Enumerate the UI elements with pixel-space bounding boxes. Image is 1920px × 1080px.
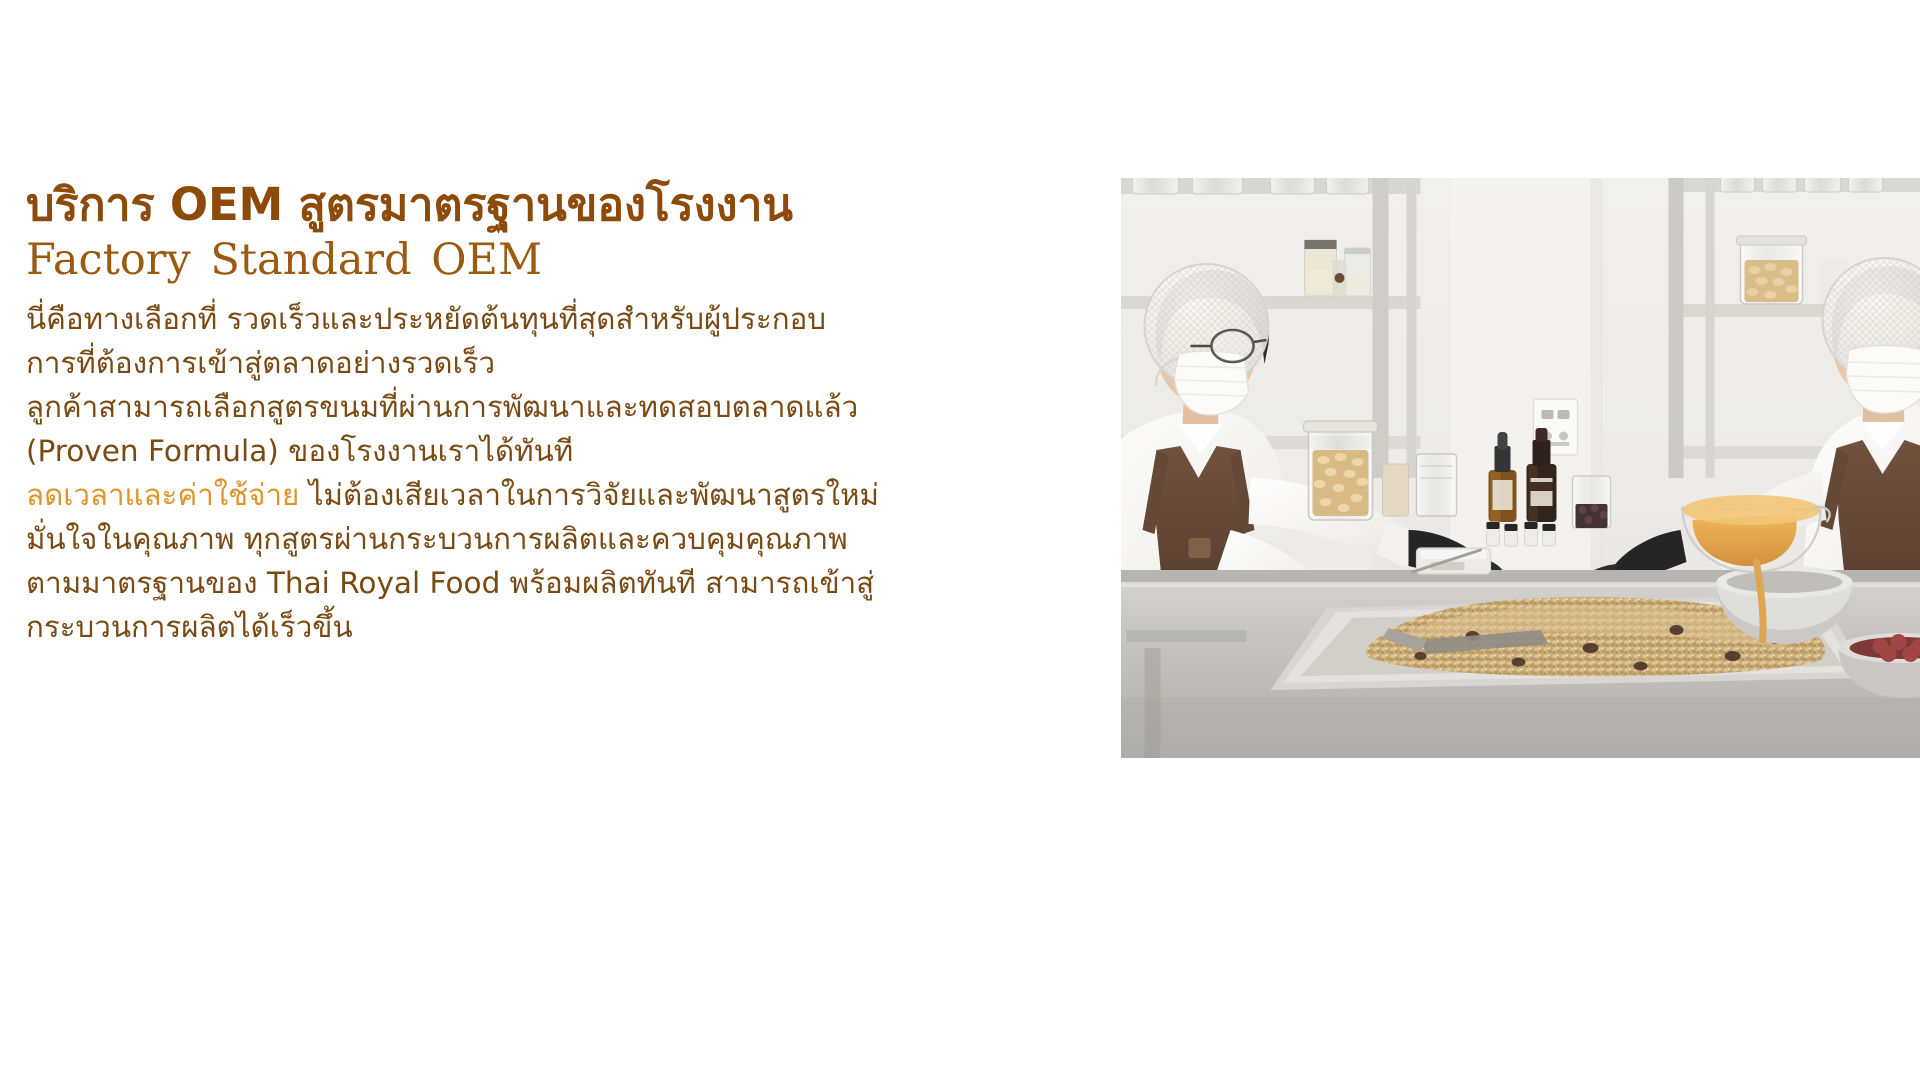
content-column: บริการ OEM สูตรมาตรฐานของโรงงาน Factory …: [26, 178, 896, 649]
body-line-6: มั่นใจในคุณภาพ ทุกสูตรผ่านกระบวนการผลิตแ…: [26, 517, 896, 561]
page-title-thai: บริการ OEM สูตรมาตรฐานของโรงงาน: [26, 178, 896, 231]
body-line-8: กระบวนการผลิตได้เร็วขึ้น: [26, 605, 896, 649]
body-copy: นี่คือทางเลือกที่ รวดเร็วและประหยัดต้นทุ…: [26, 297, 896, 649]
body-line-4: (Proven Formula) ของโรงงานเราได้ทันที: [26, 429, 896, 473]
slide-page: บริการ OEM สูตรมาตรฐานของโรงงาน Factory …: [0, 0, 1920, 1080]
body-line-3: ลูกค้าสามารถเลือกสูตรขนมที่ผ่านการพัฒนาแ…: [26, 385, 896, 429]
page-title-english: Factory Standard OEM: [26, 235, 896, 287]
body-line-1: นี่คือทางเลือกที่ รวดเร็วและประหยัดต้นทุ…: [26, 297, 896, 341]
factory-photo: [1121, 178, 1920, 758]
body-line-2: การที่ต้องการเข้าสู่ตลาดอย่างรวดเร็ว: [26, 341, 896, 385]
body-line-5-highlight: ลดเวลาและค่าใช้จ่าย ไม่ต้องเสียเวลาในการ…: [26, 473, 896, 517]
highlight-phrase: ลดเวลาและค่าใช้จ่าย: [26, 478, 299, 512]
body-line-7: ตามมาตรฐานของ Thai Royal Food พร้อมผลิตท…: [26, 561, 896, 605]
factory-photo-illustration: [1121, 178, 1920, 758]
highlight-line-rest: ไม่ต้องเสียเวลาในการวิจัยและพัฒนาสูตรใหม…: [299, 478, 879, 512]
